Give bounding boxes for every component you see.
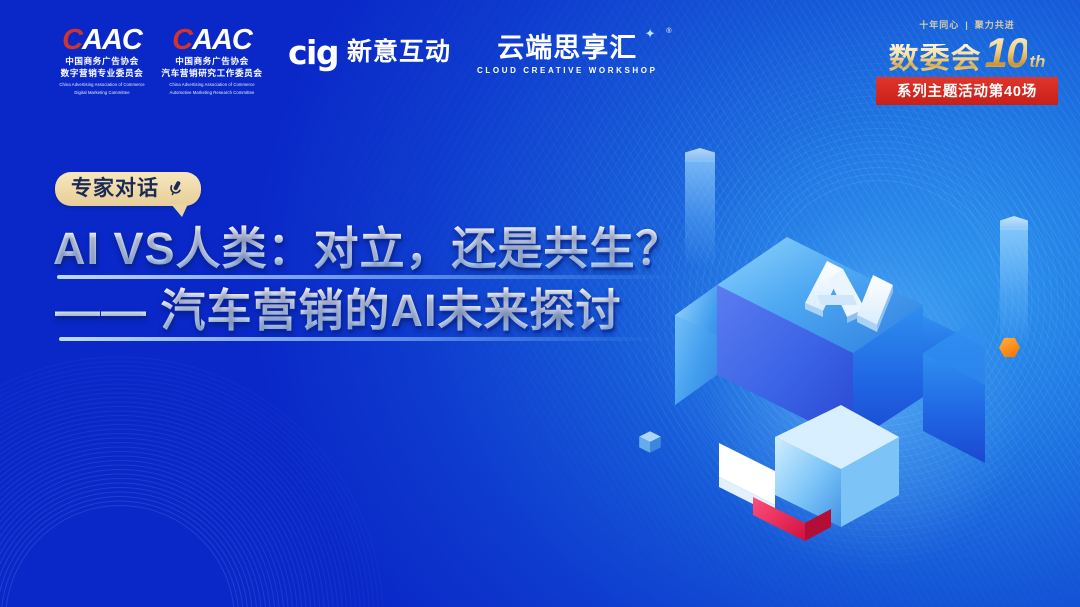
ai-cube-graphic xyxy=(655,175,1055,555)
caac-wordmark-aac: AAC xyxy=(192,24,252,56)
caac-wordmark: CAAC xyxy=(44,26,160,55)
caac-wordmark-c: C xyxy=(62,24,82,56)
expert-dialogue-tag-tail xyxy=(171,204,188,217)
pillar-cap xyxy=(685,148,715,162)
anniversary-badge: 十年同心|聚力共进 数委会 10 th 系列主题活动第40场 xyxy=(876,18,1058,105)
partner-logo-bar: CAAC 中国商务广告协会 数字营销专业委员会 China Advertisin… xyxy=(44,24,658,94)
badge-slogan: 十年同心|聚力共进 xyxy=(876,18,1058,31)
badge-main-row: 数委会 10 th xyxy=(876,32,1058,74)
logo-cloud-creative-workshop: ✦ ® 云端思享汇 CLOUD CREATIVE WORKSHOP xyxy=(477,24,658,75)
caac-auto-cn-line1: 中国商务广告协会 xyxy=(154,55,270,67)
cig-wordmark: cig xyxy=(288,36,338,69)
headline-line-2-text: —— 汽车营销的AI未来探讨 xyxy=(55,284,682,339)
logo-cig: cig 新意互动 xyxy=(288,24,451,69)
caac-digital-cn-line1: 中国商务广告协会 xyxy=(44,55,160,67)
badge-anniversary-suffix: th xyxy=(1029,53,1045,70)
sparkle-icon: ✦ xyxy=(645,26,656,42)
badge-slogan-right: 聚力共进 xyxy=(972,20,1018,30)
badge-anniversary-number: 10 xyxy=(985,32,1028,74)
caac-wordmark: CAAC xyxy=(154,26,270,55)
badge-slogan-divider: | xyxy=(962,20,972,30)
headline-block: AI VS人类：对立，还是共生？ —— 汽车营销的AI未来探讨 xyxy=(53,222,682,346)
cig-cn-name: 新意互动 xyxy=(347,40,451,65)
badge-ribbon: 系列主题活动第40场 xyxy=(876,77,1058,105)
headline-underline xyxy=(57,275,677,279)
poster-canvas: CAAC 中国商务广告协会 数字营销专业委员会 China Advertisin… xyxy=(0,0,1080,607)
caac-wordmark-aac: AAC xyxy=(82,24,142,56)
microphone-icon xyxy=(166,179,185,198)
caac-digital-cn-line2: 数字营销专业委员会 xyxy=(44,67,160,79)
caac-auto-cn-line2: 汽车营销研究工作委员会 xyxy=(154,67,270,79)
logo-caac-automotive: CAAC 中国商务广告协会 汽车营销研究工作委员会 China Advertis… xyxy=(154,24,270,97)
expert-dialogue-tag-body: 专家对话 xyxy=(55,172,201,206)
badge-slogan-left: 十年同心 xyxy=(916,20,962,30)
caac-digital-en-line2: Digital Marketing Committee xyxy=(44,90,160,96)
headline-line-1-text: AI VS人类：对立，还是共生？ xyxy=(53,222,682,277)
logo-caac-digital-marketing: CAAC 中国商务广告协会 数字营销专业委员会 China Advertisin… xyxy=(44,24,160,97)
ccw-cn-name: 云端思享汇 xyxy=(477,34,658,62)
expert-dialogue-label: 专家对话 xyxy=(71,178,159,199)
registered-mark: ® xyxy=(666,28,671,35)
caac-digital-en-line1: China Advertising Association of Commerc… xyxy=(44,82,160,88)
expert-dialogue-tag: 专家对话 xyxy=(55,172,201,206)
caac-auto-en-line1: China Advertising Association of Commerc… xyxy=(154,82,270,88)
headline-underline xyxy=(59,337,659,341)
ccw-en-name: CLOUD CREATIVE WORKSHOP xyxy=(477,66,658,75)
badge-org-name: 数委会 xyxy=(889,44,982,74)
caac-wordmark-c: C xyxy=(172,24,192,56)
headline-line-1: AI VS人类：对立，还是共生？ xyxy=(53,222,682,277)
headline-line-2: —— 汽车营销的AI未来探讨 xyxy=(55,284,682,339)
caac-auto-en-line2: Automotive Marketing Research Committee xyxy=(154,90,270,96)
